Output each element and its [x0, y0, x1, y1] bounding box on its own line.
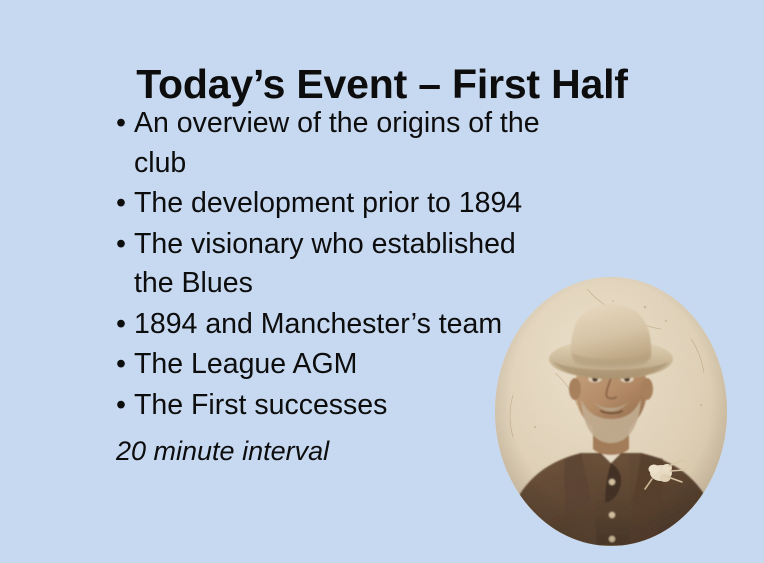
list-item: • An overview of the origins of the club — [112, 104, 542, 183]
bullet-dot-icon: • — [116, 184, 126, 224]
bullet-list: • An overview of the origins of the club… — [112, 104, 542, 470]
list-item: • The development prior to 1894 — [112, 184, 542, 224]
list-item: • The First successes — [112, 386, 542, 426]
list-item-label: The First successes — [134, 386, 542, 426]
portrait-illustration — [495, 277, 727, 546]
list-item: • 1894 and Manchester’s team — [112, 305, 542, 345]
bullet-dot-icon: • — [116, 104, 126, 144]
list-item-label: 1894 and Manchester’s team — [134, 305, 542, 345]
list-item-label: The visionary who established the Blues — [134, 225, 542, 304]
presentation-slide: Today’s Event – First Half • An overview… — [0, 0, 764, 563]
list-item-label: The League AGM — [134, 345, 542, 385]
bullet-dot-icon: • — [116, 386, 126, 426]
list-item: • The League AGM — [112, 345, 542, 385]
list-item-label: An overview of the origins of the club — [134, 104, 542, 183]
bullet-dot-icon: • — [116, 345, 126, 385]
bullet-dot-icon: • — [116, 225, 126, 265]
interval-note: 20 minute interval — [112, 432, 542, 470]
list-item-label: The development prior to 1894 — [134, 184, 542, 224]
page-title: Today’s Event – First Half — [0, 61, 764, 108]
circular-sepia-portrait — [495, 277, 727, 546]
bullet-dot-icon: • — [116, 305, 126, 345]
list-item: • The visionary who established the Blue… — [112, 225, 542, 304]
